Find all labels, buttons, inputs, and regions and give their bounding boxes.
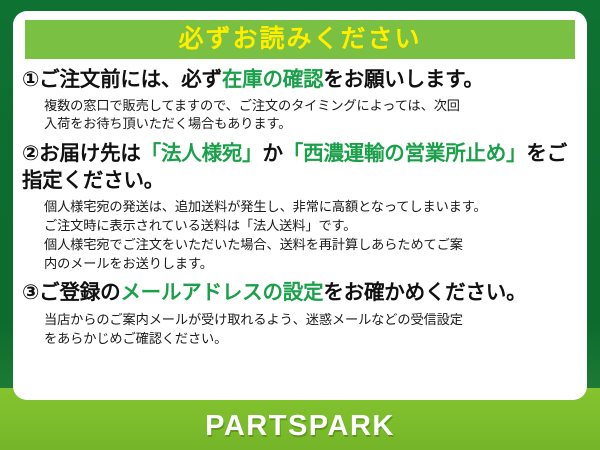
- notice-item-3-body-line-2: をあらかじめご確認ください。: [44, 330, 579, 349]
- notice-item-2-heading-part-3: か: [262, 142, 282, 165]
- brand-name: PARTSPARK: [205, 412, 395, 441]
- notice-item-2-marker: ②: [22, 142, 39, 165]
- notice-item-1-body-line-2: 入荷をお待ち頂いただく場合もあります。: [44, 115, 579, 134]
- notice-item-2-body-line-4: 内のメールをお送りします。: [44, 255, 579, 274]
- notice-item-2-body-line-2: ご注文時に表示されている送料は「法人送料」です。: [44, 217, 579, 236]
- notice-item-2: ②お届け先は「法人様宛」か「西濃運輸の営業所止め」をご指定ください。 個人様宅宛…: [22, 141, 579, 273]
- notice-item-2-body-line-3: 個人様宅宛でご注文をいただいた場合、送料を再計算しあらためてご案: [44, 236, 579, 255]
- page-title: 必ずお読みください: [178, 27, 421, 52]
- notice-item-3-heading-highlight: メールアドレスの設定: [120, 281, 323, 304]
- notice-item-2-heading-highlight-1: 「法人様宛」: [141, 142, 263, 165]
- notice-item-list: ①ご注文前には、必ず在庫の確認をお願いします。 複数の窓口で販売してますので、ご…: [13, 67, 587, 353]
- notice-card: 必ずお読みください ①ご注文前には、必ず在庫の確認をお願いします。 複数の窓口で…: [0, 0, 600, 450]
- header-bar: 必ずお読みください: [25, 20, 575, 59]
- notice-item-3: ③ご登録のメールアドレスの設定をお確かめください。 当店からのご案内メールが受け…: [22, 280, 579, 348]
- white-content-panel: 必ずお読みください ①ご注文前には、必ず在庫の確認をお願いします。 複数の窓口で…: [13, 11, 587, 400]
- notice-item-3-body-line-1: 当店からのご案内メールが受け取れるよう、迷惑メールなどの受信設定: [44, 311, 579, 330]
- notice-item-2-heading-highlight-2: 「西濃運輸の営業所止め」: [283, 142, 527, 165]
- notice-item-3-body: 当店からのご案内メールが受け取れるよう、迷惑メールなどの受信設定 をあらかじめご…: [22, 311, 579, 348]
- notice-item-1-body-line-1: 複数の窓口で販売してますので、ご注文のタイミングによっては、次回: [44, 97, 579, 116]
- notice-item-3-heading-part-1: ご登録の: [39, 281, 120, 304]
- notice-item-1-body: 複数の窓口で販売してますので、ご注文のタイミングによっては、次回 入荷をお待ち頂…: [22, 97, 579, 134]
- notice-item-2-body: 個人様宅宛の発送は、追加送料が発生し、非常に高額となってしまいます。 ご注文時に…: [22, 198, 579, 273]
- notice-item-1-heading-part-3: をお願いします。: [323, 68, 483, 91]
- notice-item-1-heading-highlight: 在庫の確認: [222, 68, 324, 91]
- notice-item-1: ①ご注文前には、必ず在庫の確認をお願いします。 複数の窓口で販売してますので、ご…: [22, 67, 579, 134]
- notice-item-1-marker: ①: [22, 68, 39, 91]
- notice-item-2-heading-part-1: お届け先は: [39, 142, 141, 165]
- notice-item-3-heading-part-3: をお確かめください。: [323, 281, 526, 304]
- brand-logo: PARTSPARK: [0, 412, 600, 441]
- notice-item-3-marker: ③: [22, 281, 39, 304]
- notice-item-2-body-line-1: 個人様宅宛の発送は、追加送料が発生し、非常に高額となってしまいます。: [44, 198, 579, 217]
- notice-item-3-heading: ③ご登録のメールアドレスの設定をお確かめください。: [22, 280, 579, 307]
- notice-item-2-heading: ②お届け先は「法人様宛」か「西濃運輸の営業所止め」をご指定ください。: [22, 141, 579, 194]
- notice-item-1-heading-part-1: ご注文前には、必ず: [39, 68, 222, 91]
- notice-item-1-heading: ①ご注文前には、必ず在庫の確認をお願いします。: [22, 67, 579, 94]
